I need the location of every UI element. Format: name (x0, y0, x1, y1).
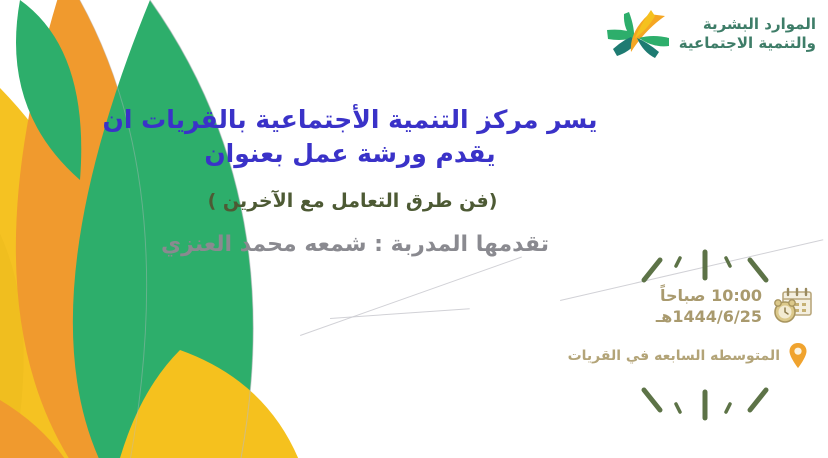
decorative-hairline (300, 257, 522, 336)
ministry-logo: الموارد البشرية والتنمية الاجتماعية (603, 8, 816, 60)
location-pin-icon (788, 342, 808, 370)
sparkle-burst-icon (630, 380, 780, 426)
venue-row: المتوسطه السابعه في القريات (584, 342, 808, 370)
headline-line-2: يقدم ورشة عمل بعنوان (0, 137, 700, 171)
page-title: يسر مركز التنمية الأجتماعية بالقريات ان … (0, 103, 700, 171)
event-time: 10:00 صباحاً (660, 286, 762, 305)
venue-name: المتوسطه السابعه في القريات (568, 348, 780, 364)
event-poster: الموارد البشرية والتنمية الاجتماعية يسر … (0, 0, 828, 458)
calendar-clock-icon (770, 286, 814, 326)
datetime-row: 10:00 صباحاً 1444/6/25هـ (584, 286, 814, 326)
wordmark-line-1: الموارد البشرية (679, 15, 816, 34)
wordmark-line-2: والتنمية الاجتماعية (679, 34, 816, 53)
workshop-title: (فن طرق التعامل مع الآخرين ) (0, 190, 705, 212)
saudi-hrsd-star-icon (603, 8, 671, 60)
event-date: 1444/6/25هـ (656, 307, 762, 326)
sparkle-burst-icon (630, 244, 780, 290)
ministry-wordmark: الموارد البشرية والتنمية الاجتماعية (679, 15, 816, 53)
headline-line-1: يسر مركز التنمية الأجتماعية بالقريات ان (0, 103, 700, 137)
overlapping-petals-icon (0, 0, 320, 458)
event-details: 10:00 صباحاً 1444/6/25هـ المتوسطه السابع… (584, 244, 814, 426)
decorative-hairline (330, 308, 470, 319)
